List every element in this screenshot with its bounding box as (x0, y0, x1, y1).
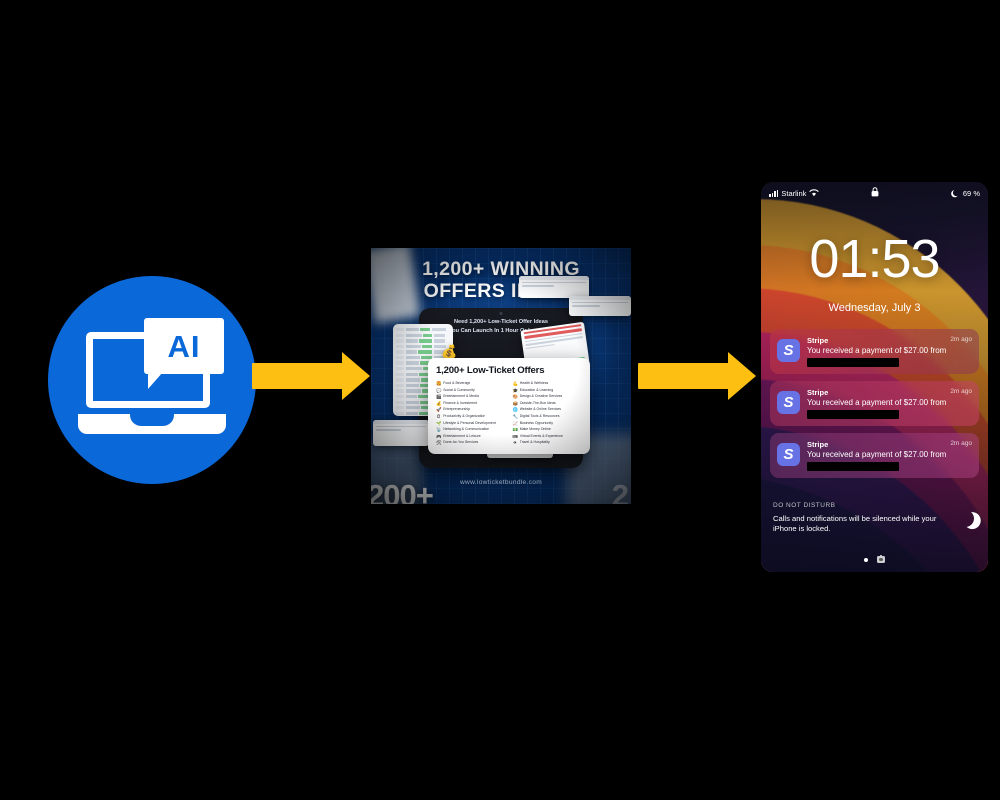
arrow-head (342, 352, 370, 400)
stripe-app-icon: S (777, 391, 800, 414)
arrow-shaft (638, 363, 730, 389)
notification-timestamp: 2m ago (950, 388, 972, 395)
notification-app-name: Stripe (807, 388, 828, 397)
laptop-ai-chat-icon: AI (78, 332, 226, 434)
crescent-moon-icon (954, 507, 977, 530)
do-not-disturb-panel: DO NOT DISTURB Calls and notifications w… (773, 502, 976, 534)
stage-ai-icon: AI (48, 276, 256, 484)
camera-icon[interactable] (877, 556, 885, 563)
status-left-group: Starlink (769, 189, 819, 198)
notification-redaction-bar (807, 462, 899, 471)
battery-label: 69 % (963, 189, 980, 198)
dnd-label: DO NOT DISTURB (773, 502, 976, 509)
arrow-head (728, 352, 756, 400)
notification-item[interactable]: SStripe2m agoYou received a payment of $… (770, 381, 979, 426)
lock-icon (871, 187, 879, 199)
stage-promo-creative: 1,200+ WINNING OFFERS INSIDE Need 1,200+… (371, 248, 631, 504)
notification-list[interactable]: SStripe2m agoYou received a payment of $… (770, 329, 979, 485)
notification-app-name: Stripe (807, 336, 828, 345)
arrow-right-icon-1 (252, 352, 370, 400)
stage-iphone-lockscreen: Starlink 69 % 01:53 Wednesday, July 3 SS… (761, 182, 988, 572)
crescent-moon-icon (951, 189, 960, 198)
lockscreen-date: Wednesday, July 3 (761, 302, 988, 314)
chat-bubble-icon: AI (144, 318, 224, 374)
notification-body: You received a payment of $27.00 from (807, 450, 971, 460)
ai-bubble-label: AI (168, 331, 201, 362)
notification-redaction-bar (807, 410, 899, 419)
arrow-shaft (252, 363, 344, 389)
notification-body: You received a payment of $27.00 from (807, 346, 971, 356)
notification-timestamp: 2m ago (950, 440, 972, 447)
flashlight-dot-icon[interactable] (864, 558, 868, 562)
status-right-group: 69 % (951, 189, 980, 198)
stripe-app-icon: S (777, 339, 800, 362)
notification-app-name: Stripe (807, 440, 828, 449)
stripe-app-icon: S (777, 443, 800, 466)
notification-item[interactable]: SStripe2m agoYou received a payment of $… (770, 433, 979, 478)
carrier-label: Starlink (781, 189, 806, 198)
notification-redaction-bar (807, 358, 899, 367)
notification-body: You received a payment of $27.00 from (807, 398, 971, 408)
lockscreen-clock: 01:53 (761, 230, 988, 288)
wifi-icon (809, 189, 819, 197)
promo-vignette (371, 248, 631, 504)
laptop-base-shape (78, 414, 226, 434)
phone-status-bar: Starlink 69 % (761, 186, 988, 200)
notification-timestamp: 2m ago (950, 336, 972, 343)
funnel-graphic-canvas: AI 1,200+ WINNING OFFERS INSIDE Need 1,2… (0, 0, 1000, 800)
dnd-text: Calls and notifications will be silenced… (773, 514, 938, 534)
lockscreen-footer (761, 556, 988, 563)
chat-bubble-tail-icon (148, 372, 163, 389)
laptop-notch-shape (130, 413, 174, 426)
arrow-right-icon-2 (638, 352, 756, 400)
notification-item[interactable]: SStripe2m agoYou received a payment of $… (770, 329, 979, 374)
cellular-signal-icon (769, 190, 778, 197)
